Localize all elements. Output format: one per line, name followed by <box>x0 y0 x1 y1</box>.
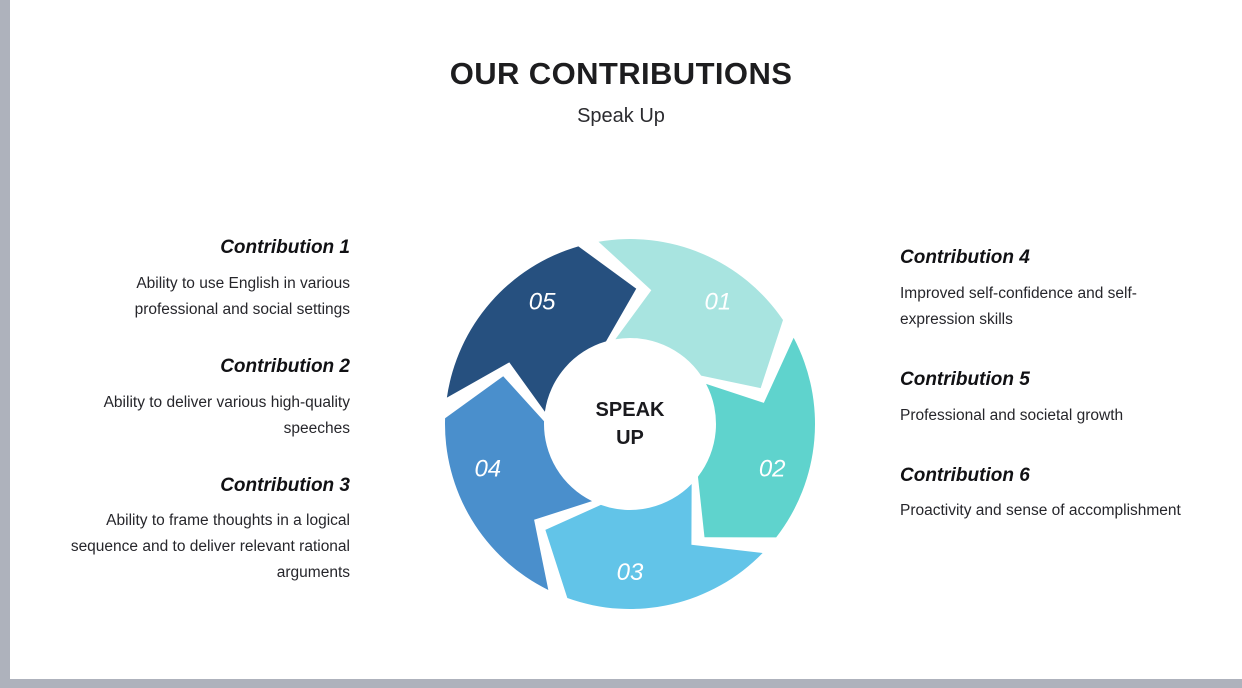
contribution-title-5: Contribution 5 <box>900 368 1190 392</box>
contribution-item-3: Contribution 3 Ability to frame thoughts… <box>60 474 350 587</box>
slide: OUR CONTRIBUTIONS Speak Up Contribution … <box>0 0 1242 688</box>
contribution-desc-2: Ability to deliver various high-quality … <box>60 390 350 442</box>
contribution-desc-3: Ability to frame thoughts in a logical s… <box>60 508 350 586</box>
contribution-item-5: Contribution 5 Professional and societal… <box>900 368 1190 429</box>
contribution-desc-5: Professional and societal growth <box>900 403 1190 429</box>
cycle-segment-label-04: 04 <box>474 456 501 483</box>
contribution-desc-6: Proactivity and sense of accomplishment <box>900 498 1190 524</box>
cycle-segment-label-05: 05 <box>529 288 556 315</box>
page-edge-bottom <box>0 679 1242 688</box>
contribution-title-2: Contribution 2 <box>60 355 350 379</box>
page-subtitle: Speak Up <box>0 104 1242 128</box>
cycle-segment-label-03: 03 <box>617 559 644 586</box>
contribution-desc-4: Improved self-confidence and self-expres… <box>900 281 1190 333</box>
contribution-title-4: Contribution 4 <box>900 246 1190 270</box>
contribution-title-3: Contribution 3 <box>60 474 350 498</box>
cycle-segment-label-01: 01 <box>705 288 732 315</box>
page-title: OUR CONTRIBUTIONS <box>0 57 1242 91</box>
right-contributions-column: Contribution 4 Improved self-confidence … <box>900 246 1190 524</box>
slide-header: OUR CONTRIBUTIONS Speak Up <box>0 57 1242 128</box>
cycle-hub-circle <box>554 348 706 500</box>
hub-label-line2: UP <box>616 427 644 449</box>
contribution-item-4: Contribution 4 Improved self-confidence … <box>900 246 1190 333</box>
cycle-segment-label-02: 02 <box>759 456 786 483</box>
cycle-diagram-svg: 0102030405 SPEAK UP <box>420 214 840 634</box>
cycle-diagram: 0102030405 SPEAK UP <box>420 214 840 634</box>
contribution-item-2: Contribution 2 Ability to deliver variou… <box>60 355 350 442</box>
contribution-desc-1: Ability to use English in various profes… <box>60 271 350 323</box>
contribution-title-6: Contribution 6 <box>900 464 1190 488</box>
hub-label-line1: SPEAK <box>596 399 665 421</box>
contribution-title-1: Contribution 1 <box>60 236 350 260</box>
contribution-item-1: Contribution 1 Ability to use English in… <box>60 236 350 323</box>
contribution-item-6: Contribution 6 Proactivity and sense of … <box>900 464 1190 525</box>
left-contributions-column: Contribution 1 Ability to use English in… <box>60 236 350 586</box>
